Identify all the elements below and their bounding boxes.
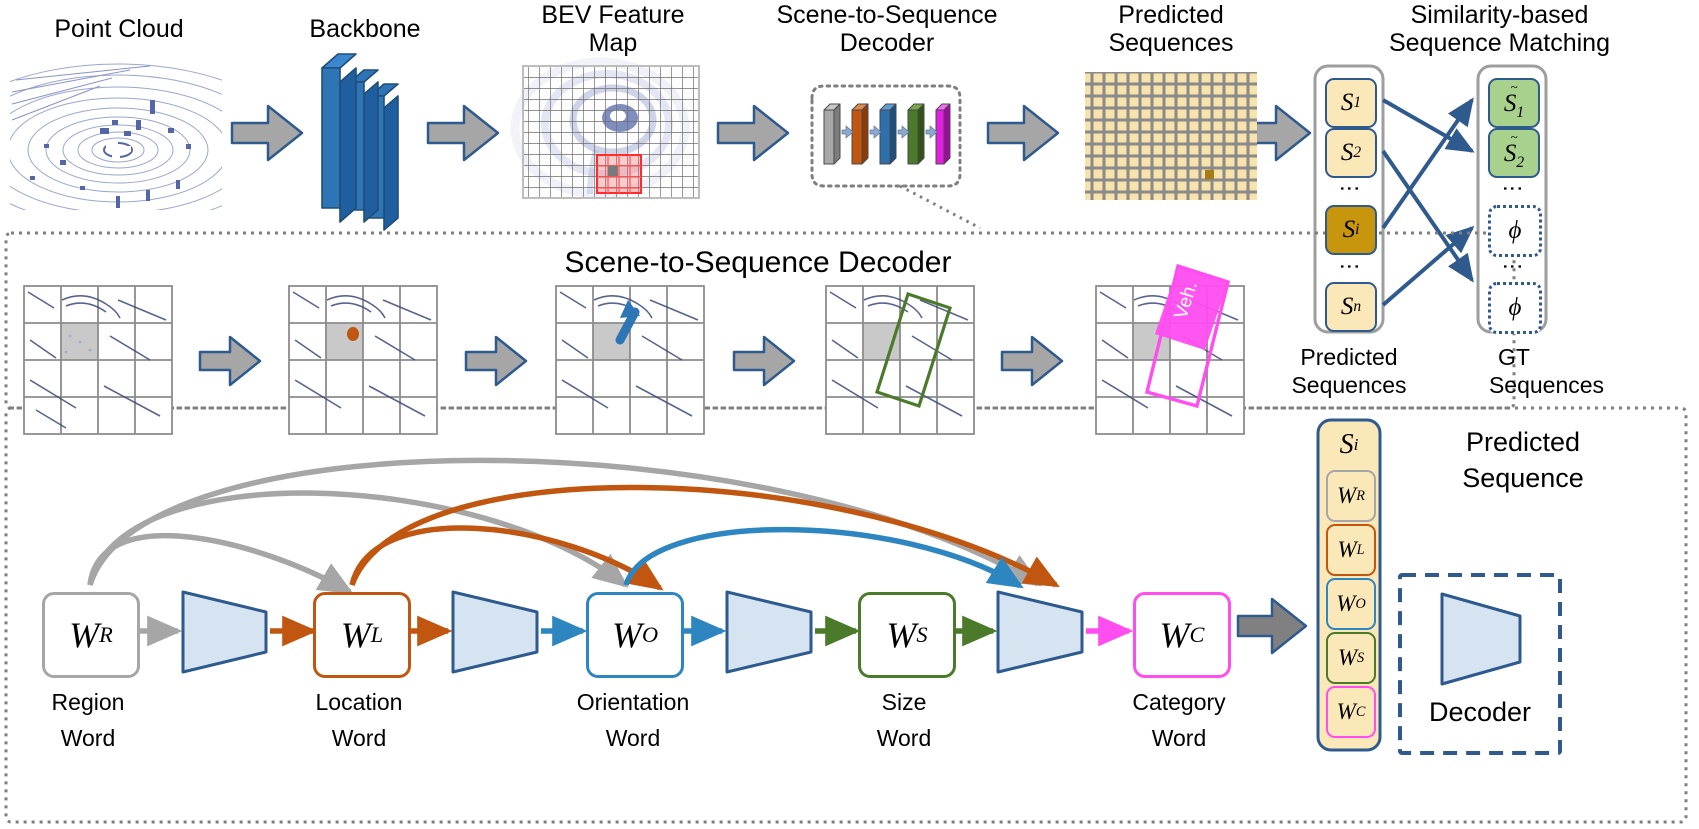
word-box-category[interactable]: WC [1133,592,1231,678]
pred-seq-token-category-sup: C [1356,704,1366,721]
gt-column-ellipsis-top: ⋮ [1488,178,1536,204]
word-box-category-sup: C [1190,622,1205,648]
title-matching-line2: Sequence Matching [1300,28,1699,58]
word-caption-size-line1: Size [824,688,984,716]
pred-seq-token-region[interactable]: WR [1326,470,1376,522]
title-bev-line1: BEV Feature [500,0,726,30]
pred-seq-token-location-sup: L [1357,542,1365,559]
word-box-region-sup: R [99,622,113,648]
word-caption-category-line2: Word [1094,724,1264,752]
gt-token-s2[interactable]: ~ S2 [1488,128,1540,178]
word-box-size-symbol: W [886,614,916,656]
pred-token-si-label: S [1343,216,1356,244]
word-caption-orientation-line2: Word [542,724,724,752]
gt-token-s2-sub: 2 [1516,154,1524,171]
pred-ellipsis-top-glyph: ⋮ [1343,178,1355,199]
caption-predicted-sequences-line1: Predicted [1269,343,1429,371]
pred-seq-token-size-sup: S [1357,650,1364,667]
skip-connection-arcs [90,460,1056,592]
word-box-location-sup: L [371,622,383,648]
predicted-sequences-grid [1085,72,1257,200]
title-backbone: Backbone [250,14,480,44]
predicted-sequence-caption-line2: Sequence [1398,464,1648,492]
pred-seq-token-region-symbol: W [1337,483,1356,509]
middle-panel-title: Scene-to-Sequence Decoder [0,246,1516,280]
bev-feature-map [515,62,699,198]
caption-gt-sequences-line1: GT [1434,343,1594,371]
gt-token-phi-2[interactable]: ϕ [1488,282,1542,334]
title-point-cloud: Point Cloud [0,14,238,44]
decoder-legend-label: Decoder [1400,698,1560,726]
decoder-legend-trapezoid [1442,594,1520,684]
point-cloud-image [0,64,298,240]
pred-token-s1[interactable]: S1 [1325,78,1377,128]
pred-token-s2-label: S [1341,139,1354,167]
pred-token-s1-label: S [1341,89,1354,117]
gt-ellipsis-top-glyph: ⋮ [1506,178,1518,199]
pred-seq-token-orientation-sup: O [1355,596,1365,613]
predicted-sequence-header-sub: i [1354,435,1359,455]
pred-token-s1-sub: 1 [1353,94,1361,112]
title-pred-seq-line1: Predicted [1055,0,1287,30]
gt-token-s1-sub: 1 [1516,104,1524,121]
pred-column-ellipsis-top: ⋮ [1325,178,1373,204]
gt-token-s2-symbol: S [1504,140,1517,167]
title-decoder-line1: Scene-to-Sequence [742,0,1032,30]
pred-token-s2[interactable]: S2 [1325,128,1377,178]
word-box-location[interactable]: WL [313,592,411,678]
title-bev-line2: Map [500,28,726,58]
gt-token-s1[interactable]: ~ S1 [1488,78,1540,128]
gt-token-s1-symbol: S [1504,90,1517,117]
pred-token-sn[interactable]: Sn [1325,282,1377,332]
predicted-sequence-caption-line1: Predicted [1398,428,1648,456]
pred-token-sn-sub: n [1353,298,1361,316]
word-box-size[interactable]: WS [858,592,956,678]
title-decoder-line2: Decoder [742,28,1032,58]
word-caption-location-line1: Location [279,688,439,716]
word-box-orientation[interactable]: WO [586,592,684,678]
pred-seq-token-category-symbol: W [1337,699,1356,725]
backbone-icon [322,54,398,230]
pred-seq-token-size[interactable]: WS [1326,632,1376,684]
predicted-sequence-header-symbol: S [1340,429,1354,461]
pred-seq-token-region-sup: R [1356,488,1365,505]
word-caption-region-line1: Region [8,688,168,716]
gt-token-s2-label: ~ S2 [1504,134,1524,172]
title-matching-line1: Similarity-based [1300,0,1699,30]
pred-token-s2-sub: 2 [1353,144,1361,162]
word-box-region-symbol: W [69,614,99,656]
caption-predicted-sequences-line2: Sequences [1269,371,1429,399]
pred-seq-token-orientation-symbol: W [1336,591,1355,617]
pred-seq-token-location[interactable]: WL [1326,524,1376,576]
caption-gt-sequences-line2: Sequences [1434,371,1659,399]
word-caption-category-line1: Category [1094,688,1264,716]
word-box-region[interactable]: WR [42,592,140,678]
pred-seq-token-category[interactable]: WC [1326,686,1376,738]
word-box-orientation-sup: O [642,622,658,648]
pred-token-sn-label: S [1341,293,1354,321]
word-caption-orientation-line1: Orientation [542,688,724,716]
word-caption-location-line2: Word [279,724,439,752]
pred-seq-token-location-symbol: W [1337,537,1356,563]
pred-seq-token-orientation[interactable]: WO [1326,578,1376,630]
figure-canvas: Veh. [0,0,1699,829]
predicted-sequence-header: Si [1318,424,1380,466]
word-box-category-symbol: W [1160,614,1190,656]
gt-token-s1-label: ~ S1 [1504,84,1524,122]
pred-token-si-sub: i [1355,221,1359,239]
gt-token-phi-1-label: ϕ [1509,217,1522,245]
word-caption-region-line2: Word [8,724,168,752]
word-box-size-sup: S [916,622,927,648]
word-box-location-symbol: W [341,614,371,656]
final-block-arrow [1238,599,1306,653]
pred-seq-token-size-symbol: W [1338,645,1357,671]
gt-token-phi-2-label: ϕ [1509,294,1522,322]
word-caption-size-line2: Word [824,724,984,752]
word-box-orientation-symbol: W [612,614,642,656]
title-pred-seq-line2: Sequences [1055,28,1287,58]
